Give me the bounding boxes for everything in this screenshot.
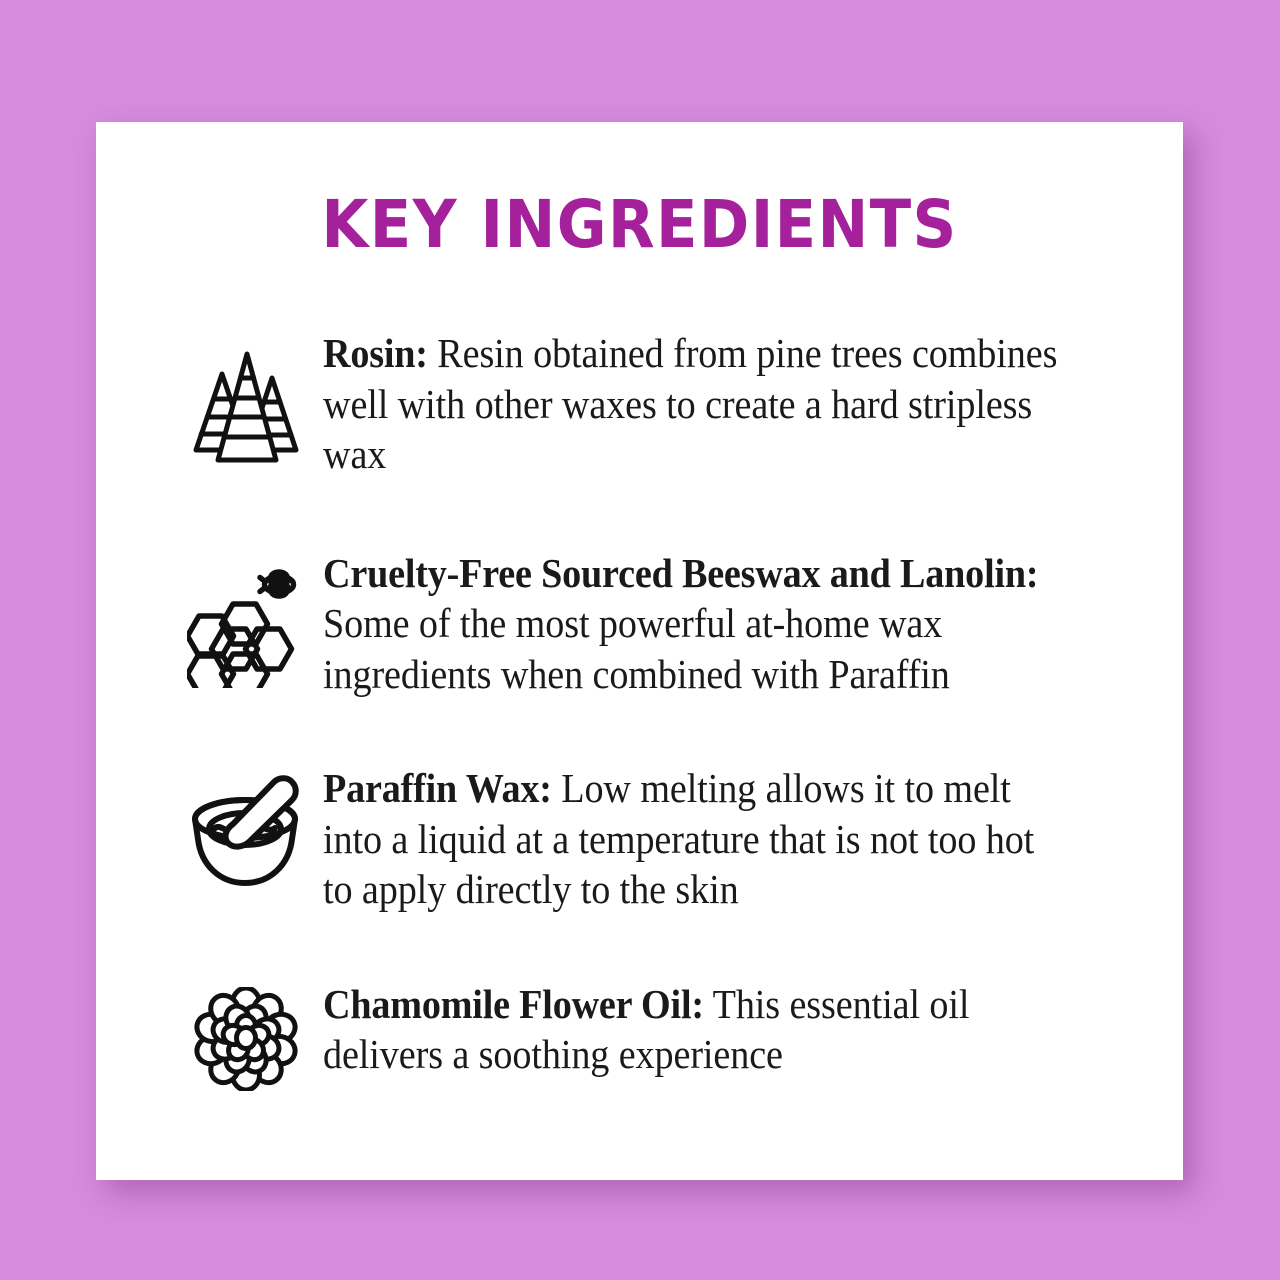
list-item: Cruelty-Free Sourced Beeswax and Lanolin…	[96, 548, 1183, 700]
ingredient-name: Cruelty-Free Sourced Beeswax and Lanolin…	[323, 550, 1038, 596]
ingredient-text: Cruelty-Free Sourced Beeswax and Lanolin…	[323, 548, 1071, 700]
page-title: KEY INGREDIENTS	[139, 192, 1139, 258]
ingredient-name: Chamomile Flower Oil:	[323, 981, 704, 1027]
chamomile-flower-icon	[168, 979, 323, 1091]
ingredients-list: Rosin: Resin obtained from pine trees co…	[96, 328, 1183, 1091]
ingredient-name: Rosin:	[323, 330, 428, 376]
ingredient-description: Some of the most powerful at-home wax in…	[323, 600, 950, 697]
ingredient-description: Resin obtained from pine trees combines …	[323, 330, 1057, 477]
list-item: Chamomile Flower Oil: This essential oil…	[96, 979, 1183, 1091]
bowl-with-spoon-icon	[168, 763, 323, 891]
pine-trees-icon	[168, 328, 323, 466]
ingredient-text: Paraffin Wax: Low melting allows it to m…	[323, 763, 1071, 915]
ingredients-card: KEY INGREDIENTS	[96, 122, 1183, 1180]
list-item: Rosin: Resin obtained from pine trees co…	[96, 328, 1183, 480]
list-item: Paraffin Wax: Low melting allows it to m…	[96, 763, 1183, 915]
ingredient-name: Paraffin Wax:	[323, 765, 552, 811]
product-info-graphic: KEY INGREDIENTS	[0, 0, 1280, 1280]
honeycomb-bee-icon	[168, 548, 323, 688]
ingredient-text: Rosin: Resin obtained from pine trees co…	[323, 328, 1071, 480]
ingredient-text: Chamomile Flower Oil: This essential oil…	[323, 979, 1071, 1080]
